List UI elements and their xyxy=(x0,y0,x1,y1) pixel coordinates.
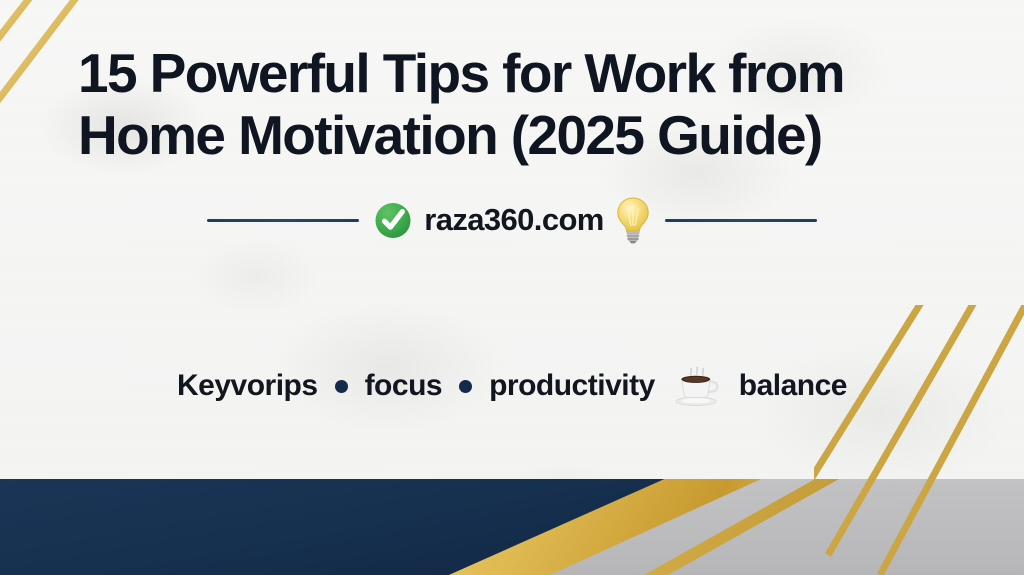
page-title: 15 Powerful Tips for Work from Home Moti… xyxy=(78,42,978,166)
brand-inner: raza360.com xyxy=(373,196,651,244)
light-bulb-icon xyxy=(615,196,651,244)
page-title-line-1: 15 Powerful Tips for Work from xyxy=(78,42,978,104)
keyword-item: productivity xyxy=(489,369,655,403)
keyword-item: balance xyxy=(739,369,847,403)
title-card: 15 Powerful Tips for Work from Home Moti… xyxy=(0,0,1024,575)
keyword-separator-dot-icon xyxy=(459,380,472,393)
keyword-item: focus xyxy=(365,369,443,403)
brand-name: raza360.com xyxy=(424,202,604,238)
keyword-row: Keyvorips focus productivity balance xyxy=(0,366,1024,406)
bottom-decorative-bar xyxy=(0,479,1024,575)
hot-beverage-icon xyxy=(672,366,722,406)
page-title-line-2: Home Motivation (2025 Guide) xyxy=(78,104,978,166)
brand-rule-left xyxy=(207,219,359,222)
keyword-separator-dot-icon xyxy=(335,380,348,393)
keyword-item: Keyvorips xyxy=(177,369,318,403)
brand-rule-right xyxy=(665,219,817,222)
green-check-mark-icon xyxy=(373,200,413,240)
brand-row: raza360.com xyxy=(0,196,1024,244)
